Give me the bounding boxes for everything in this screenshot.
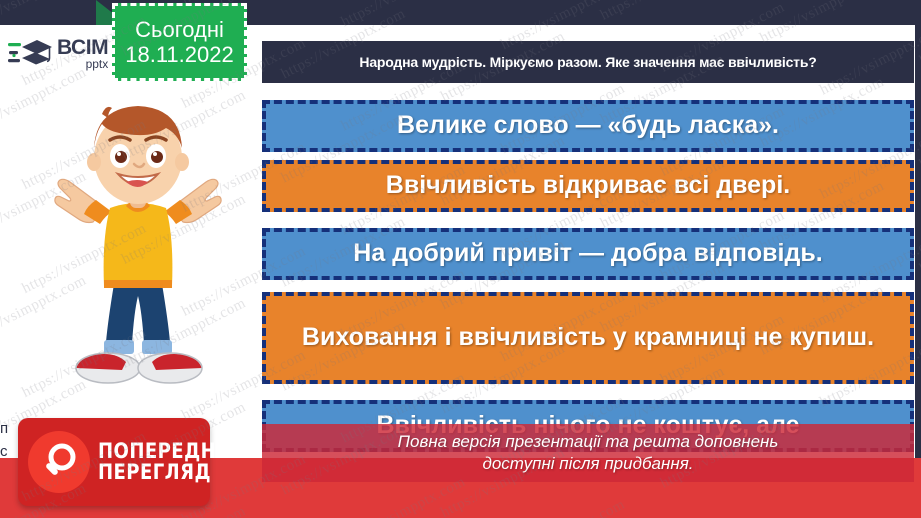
- proverb-text: Ввічливість відкриває всі двері.: [386, 171, 790, 201]
- promo-line-1: Повна версія презентації та решта доповн…: [398, 431, 779, 453]
- brand-logo-text: ВСІМ pptx: [57, 38, 108, 70]
- proverb-box: Виховання і ввічливість у крамниці не ку…: [262, 292, 914, 384]
- promo-overlay: Повна версія презентації та решта доповн…: [262, 424, 914, 482]
- today-date-badge: Сьогодні 18.11.2022: [112, 3, 247, 81]
- magnifier-icon: [28, 431, 90, 493]
- preview-badge-line-2: ПЕРЕГЛЯД: [98, 462, 239, 483]
- presentation-slide: ВСІМ pptx Сьогодні 18.11.2022 Народна му…: [0, 0, 921, 518]
- brand-logo-panel: ВСІМ pptx: [0, 25, 118, 87]
- preview-badge-line-1: ПОПЕРЕДНІЙ: [98, 441, 239, 462]
- slide-header-bar: Народна мудрість. Міркуємо разом. Яке зн…: [262, 41, 914, 83]
- preview-badge[interactable]: ПОПЕРЕДНІЙ ПЕРЕГЛЯД: [18, 418, 210, 506]
- cartoon-boy-illustration: [30, 96, 246, 408]
- proverb-box: Велике слово — «будь ласка».: [262, 100, 914, 152]
- graduation-cap-icon: [8, 34, 54, 74]
- brand-logo: ВСІМ pptx: [8, 34, 108, 74]
- slide-title: Народна мудрість. Міркуємо разом. Яке зн…: [359, 54, 816, 70]
- today-date: 18.11.2022: [125, 44, 233, 66]
- proverb-box: На добрий привіт — добра відповідь.: [262, 228, 914, 280]
- proverb-text: Велике слово — «будь ласка».: [397, 111, 779, 141]
- promo-line-2: доступні після придбання.: [482, 453, 693, 475]
- proverb-box: Ввічливість відкриває всі двері.: [262, 160, 914, 212]
- brand-name: ВСІМ: [57, 38, 108, 58]
- preview-badge-text: ПОПЕРЕДНІЙ ПЕРЕГЛЯД: [98, 441, 262, 483]
- today-label: Сьогодні: [135, 19, 224, 41]
- proverb-text: Виховання і ввічливість у крамниці не ку…: [302, 323, 874, 353]
- proverb-text: На добрий привіт — добра відповідь.: [353, 239, 822, 269]
- brand-suffix: pptx: [57, 59, 108, 70]
